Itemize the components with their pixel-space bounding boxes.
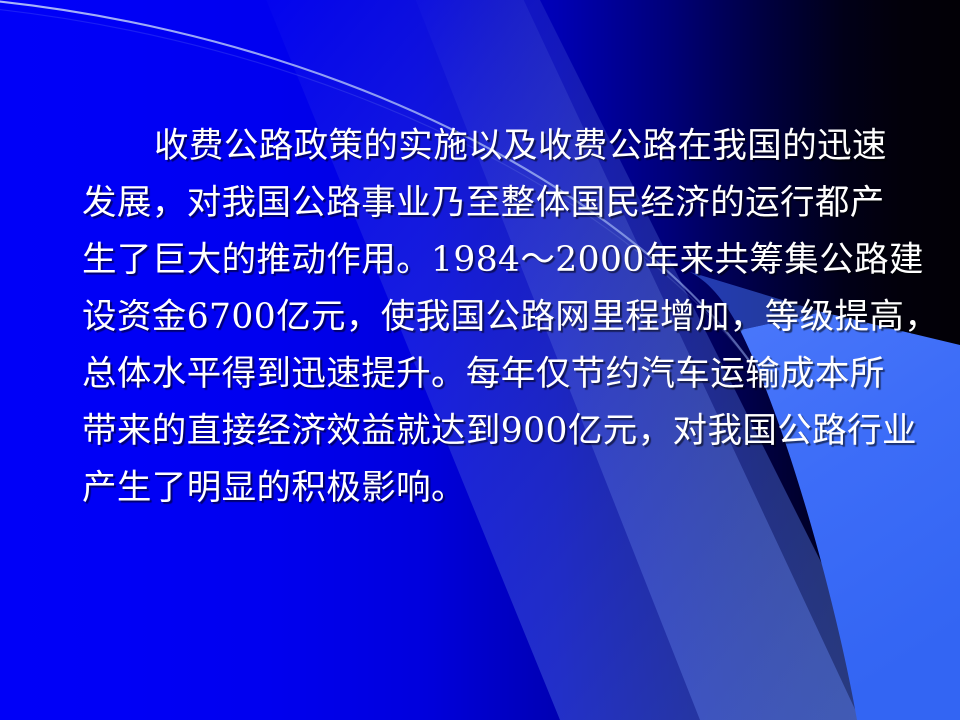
- presentation-slide: 收费公路政策的实施以及收费公路在我国的迅速 发展，对我国公路事业乃至整体国民经济…: [0, 0, 960, 720]
- body-line-3: 生了巨大的推动作用。1984～2000年来共筹集公路建: [82, 232, 872, 289]
- body-line-1: 收费公路政策的实施以及收费公路在我国的迅速: [82, 118, 872, 175]
- slide-body-text: 收费公路政策的实施以及收费公路在我国的迅速 发展，对我国公路事业乃至整体国民经济…: [82, 118, 872, 517]
- body-line-7: 产生了明显的积极影响。: [82, 460, 872, 517]
- body-line-2: 发展，对我国公路事业乃至整体国民经济的运行都产: [82, 175, 872, 232]
- body-line-4: 设资金6700亿元，使我国公路网里程增加，等级提高，: [82, 289, 872, 346]
- body-line-5: 总体水平得到迅速提升。每年仅节约汽车运输成本所: [82, 346, 872, 403]
- body-line-6: 带来的直接经济效益就达到900亿元，对我国公路行业: [82, 403, 872, 460]
